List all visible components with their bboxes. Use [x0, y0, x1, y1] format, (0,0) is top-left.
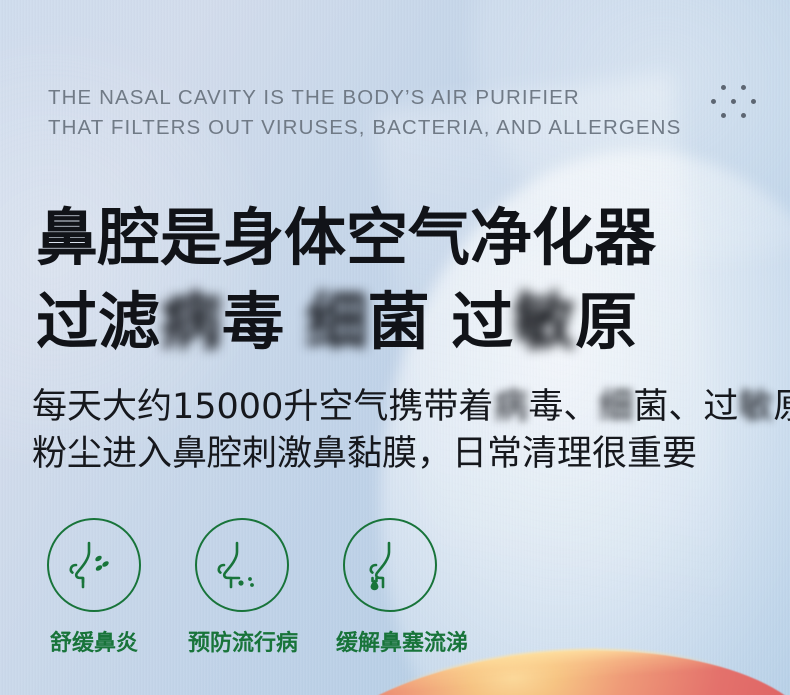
benefit-item-prevent-epidemic[interactable]: 预防流行病	[188, 518, 296, 657]
text-run-2: 毒	[222, 285, 306, 358]
nose-sneeze-icon	[63, 534, 125, 596]
censored-text-run-5: 敏	[738, 384, 773, 431]
censored-text-run-5: 敏	[513, 280, 575, 364]
english-tagline-line-2: THAT FILTERS OUT VIRUSES, BACTERIA, AND …	[48, 113, 681, 143]
benefit-icon-circle	[47, 518, 141, 612]
decoration-dot-5	[721, 113, 726, 118]
text-run-0: 过滤	[36, 285, 160, 358]
benefit-icon-circle	[343, 518, 437, 612]
text-run-4: 菌 过	[368, 285, 514, 358]
text-run-6: 原	[773, 387, 790, 427]
supporting-copy: 每天大约15000升空气携带着病毒、细菌、过敏原 粉尘进入鼻腔刺激鼻黏膜，日常清…	[32, 384, 790, 478]
decoration-dot-4	[751, 99, 756, 104]
text-run-4: 菌、过	[633, 387, 738, 427]
decoration-dot-6	[741, 113, 746, 118]
poster-content: THE NASAL CAVITY IS THE BODY’S AIR PURIF…	[0, 0, 790, 695]
nose-germs-icon	[211, 534, 273, 596]
decoration-dot-3	[731, 99, 736, 104]
censored-text-run-1: 病	[493, 384, 528, 431]
benefit-item-relieve-congestion[interactable]: 缓解鼻塞流涕	[336, 518, 444, 657]
censored-text-run-1: 病	[160, 280, 222, 364]
text-run-0: 每天大约15000升空气携带着	[32, 387, 493, 427]
nasal-care-promo-poster: THE NASAL CAVITY IS THE BODY’S AIR PURIF…	[0, 0, 790, 695]
benefit-label: 缓解鼻塞流涕	[336, 625, 444, 657]
benefit-item-relieve-rhinitis[interactable]: 舒缓鼻炎	[40, 518, 148, 657]
text-run-6: 原	[575, 285, 637, 358]
benefit-label: 预防流行病	[188, 625, 296, 657]
english-tagline-line-1: THE NASAL CAVITY IS THE BODY’S AIR PURIF…	[48, 83, 681, 113]
main-headline: 鼻腔是身体空气净化器 过滤病毒 细菌 过敏原	[36, 196, 656, 364]
decoration-dot-2	[711, 99, 716, 104]
headline-line-2: 过滤病毒 细菌 过敏原	[36, 280, 656, 364]
benefit-badge-list: 舒缓鼻炎 预防流行病	[40, 518, 444, 657]
censored-text-run-3: 细	[306, 280, 368, 364]
nose-drip-icon	[359, 534, 421, 596]
headline-line-1: 鼻腔是身体空气净化器	[36, 196, 656, 280]
decoration-dot-0	[721, 85, 726, 90]
english-tagline: THE NASAL CAVITY IS THE BODY’S AIR PURIF…	[48, 83, 681, 143]
supporting-copy-line-2: 粉尘进入鼻腔刺激鼻黏膜，日常清理很重要	[32, 431, 790, 478]
censored-text-run-3: 细	[598, 384, 633, 431]
dot-cluster-decoration	[707, 83, 767, 131]
text-run-2: 毒、	[528, 387, 598, 427]
decoration-dot-1	[741, 85, 746, 90]
benefit-label: 舒缓鼻炎	[40, 625, 148, 657]
supporting-copy-line-1: 每天大约15000升空气携带着病毒、细菌、过敏原	[32, 384, 790, 431]
benefit-icon-circle	[195, 518, 289, 612]
